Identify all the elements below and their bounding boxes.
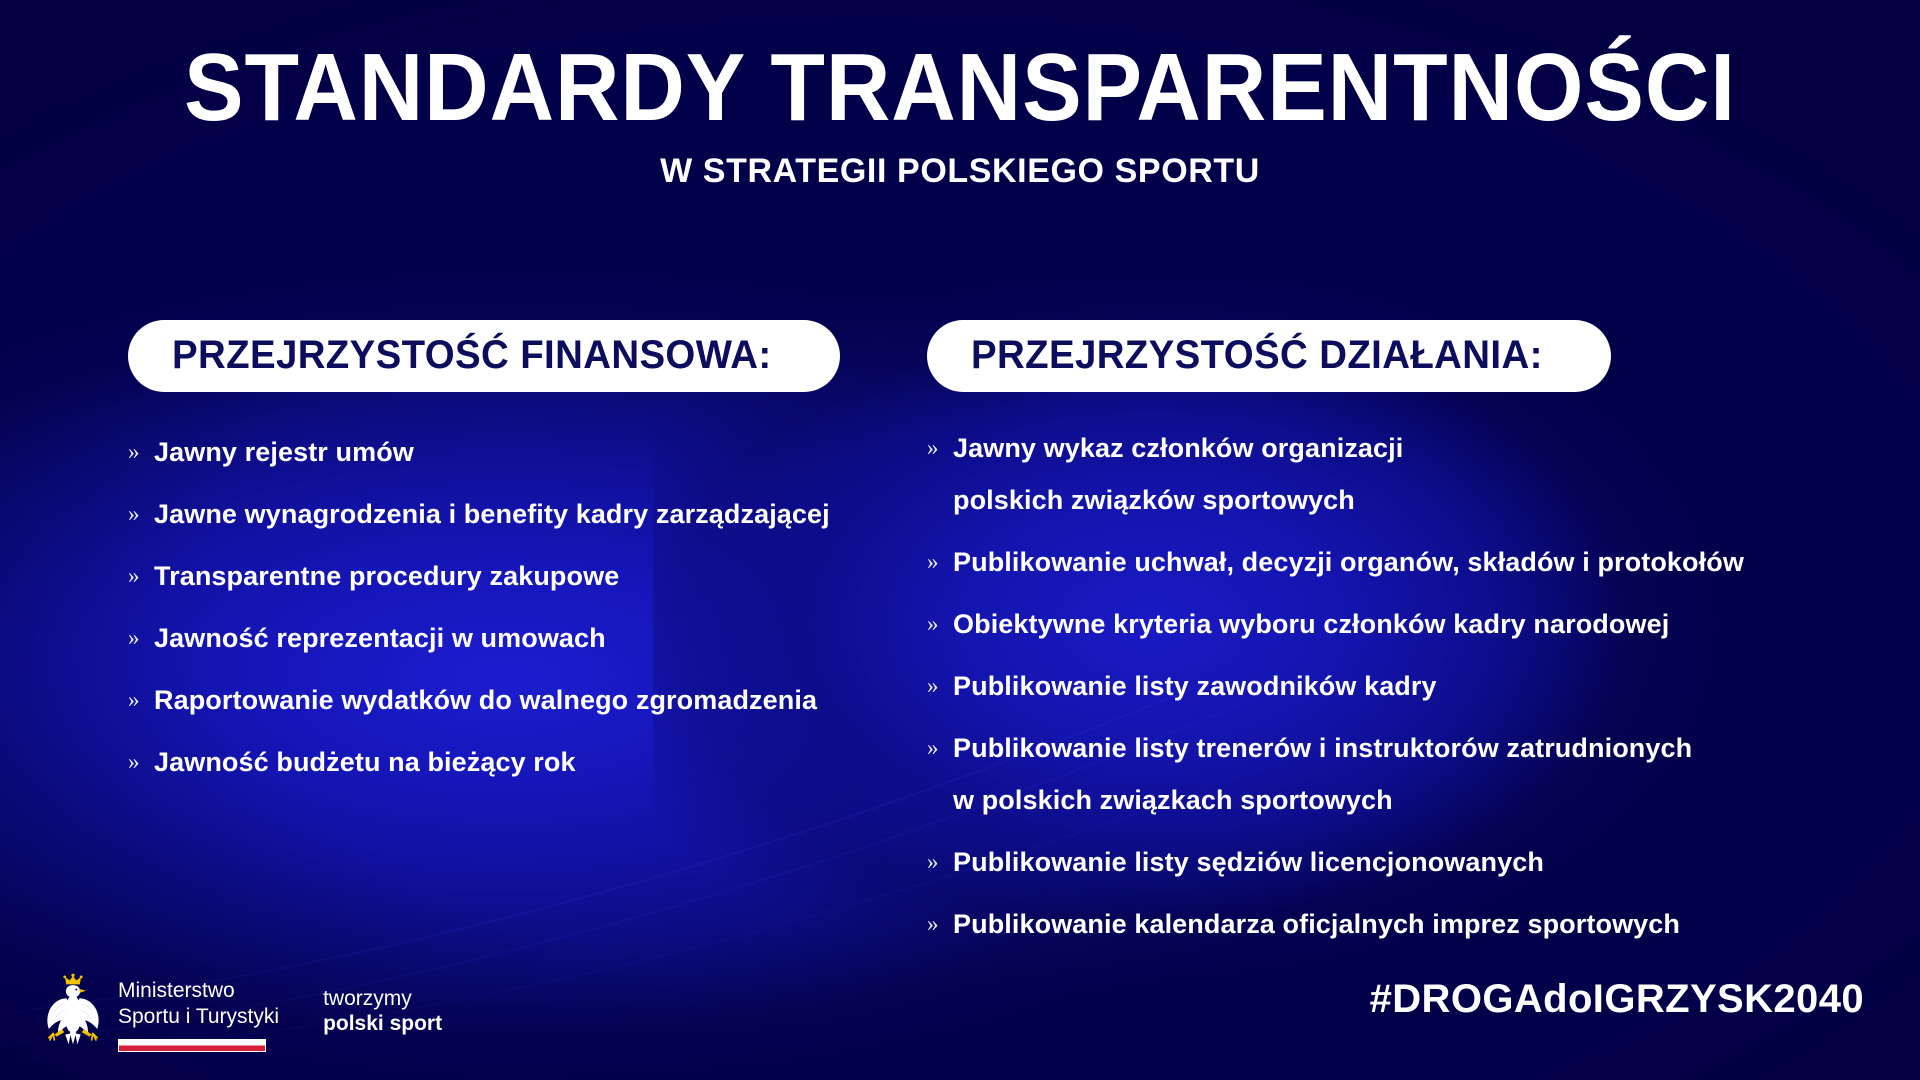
bullet-list-operational: » Jawny wykaz członków organizacji polsk… — [927, 422, 1845, 950]
ministry-name-line-2: Sportu i Turystyki — [118, 1004, 279, 1030]
chevron-double-right-icon: » — [927, 722, 953, 774]
list-item-text: Jawność reprezentacji w umowach — [154, 612, 606, 664]
chevron-double-right-icon: » — [927, 536, 953, 588]
list-item-text: Jawny wykaz członków organizacji polskic… — [953, 422, 1403, 526]
slide-canvas: STANDARDY TRANSPARENTNOŚCI W STRATEGII P… — [0, 0, 1920, 1080]
footer: Ministerstwo Sportu i Turystyki tworzymy… — [0, 930, 1920, 1080]
list-item: » Jawne wynagrodzenia i benefity kadry z… — [128, 488, 845, 540]
list-item-text: Jawne wynagrodzenia i benefity kadry zar… — [154, 488, 830, 540]
heading-pill-operational: PRZEJRZYSTOŚĆ DZIAŁANIA: — [927, 320, 1611, 392]
content-columns: PRZEJRZYSTOŚĆ FINANSOWA: » Jawny rejestr… — [0, 320, 1920, 960]
list-item: » Jawny rejestr umów — [128, 426, 845, 478]
page-subtitle: W STRATEGII POLSKIEGO SPORTU — [0, 152, 1920, 191]
chevron-double-right-icon: » — [128, 550, 154, 602]
heading-label-operational: PRZEJRZYSTOŚĆ DZIAŁANIA: — [971, 335, 1543, 375]
bullet-list-financial: » Jawny rejestr umów » Jawne wynagrodzen… — [128, 426, 845, 788]
tagline-line-1: tworzymy — [323, 986, 442, 1011]
list-item: » Obiektywne kryteria wyboru członków ka… — [927, 598, 1845, 650]
footer-branding: Ministerstwo Sportu i Turystyki tworzymy… — [40, 972, 442, 1052]
list-item: » Jawność budżetu na bieżący rok — [128, 736, 845, 788]
page-title: STANDARDY TRANSPARENTNOŚCI — [67, 38, 1853, 138]
list-item: » Jawność reprezentacji w umowach — [128, 612, 845, 664]
column-operational-transparency: PRZEJRZYSTOŚĆ DZIAŁANIA: » Jawny wykaz c… — [845, 320, 1845, 960]
chevron-double-right-icon: » — [927, 598, 953, 650]
tagline-line-2: polski sport — [323, 1011, 442, 1036]
heading-label-financial: PRZEJRZYSTOŚĆ FINANSOWA: — [172, 335, 771, 375]
chevron-double-right-icon: » — [927, 836, 953, 888]
list-item: » Publikowanie listy trenerów i instrukt… — [927, 722, 1845, 826]
list-item-text: Publikowanie listy trenerów i instruktor… — [953, 722, 1692, 826]
header: STANDARDY TRANSPARENTNOŚCI W STRATEGII P… — [0, 38, 1920, 191]
ministry-name-line-1: Ministerstwo — [118, 978, 279, 1004]
chevron-double-right-icon: » — [128, 426, 154, 478]
list-item-text: Publikowanie listy sędziów licencjonowan… — [953, 836, 1544, 888]
list-item-text: Publikowanie listy zawodników kadry — [953, 660, 1437, 712]
list-item-text: Jawny rejestr umów — [154, 426, 414, 478]
campaign-hashtag: #DROGAdoIGRZYSK2040 — [1370, 977, 1864, 1022]
list-item: » Transparentne procedury zakupowe — [128, 550, 845, 602]
list-item: » Publikowanie listy zawodników kadry — [927, 660, 1845, 712]
chevron-double-right-icon: » — [927, 422, 953, 474]
heading-pill-financial: PRZEJRZYSTOŚĆ FINANSOWA: — [128, 320, 840, 392]
list-item: » Jawny wykaz członków organizacji polsk… — [927, 422, 1845, 526]
polish-flag-bar-icon — [118, 1039, 266, 1052]
list-item-text: Raportowanie wydatków do walnego zgromad… — [154, 674, 817, 726]
list-item-text: Jawność budżetu na bieżący rok — [154, 736, 576, 788]
chevron-double-right-icon: » — [927, 660, 953, 712]
ministry-name-block: Ministerstwo Sportu i Turystyki — [118, 972, 279, 1052]
chevron-double-right-icon: » — [128, 488, 154, 540]
list-item-text: Obiektywne kryteria wyboru członków kadr… — [953, 598, 1669, 650]
list-item: » Raportowanie wydatków do walnego zgrom… — [128, 674, 845, 726]
column-financial-transparency: PRZEJRZYSTOŚĆ FINANSOWA: » Jawny rejestr… — [0, 320, 845, 960]
chevron-double-right-icon: » — [128, 674, 154, 726]
chevron-double-right-icon: » — [128, 736, 154, 788]
list-item: » Publikowanie uchwał, decyzji organów, … — [927, 536, 1845, 588]
polish-eagle-emblem-icon — [40, 972, 106, 1052]
tagline-block: tworzymy polski sport — [323, 972, 442, 1036]
chevron-double-right-icon: » — [128, 612, 154, 664]
list-item: » Publikowanie listy sędziów licencjonow… — [927, 836, 1845, 888]
list-item-text: Publikowanie uchwał, decyzji organów, sk… — [953, 536, 1744, 588]
list-item-text: Transparentne procedury zakupowe — [154, 550, 619, 602]
